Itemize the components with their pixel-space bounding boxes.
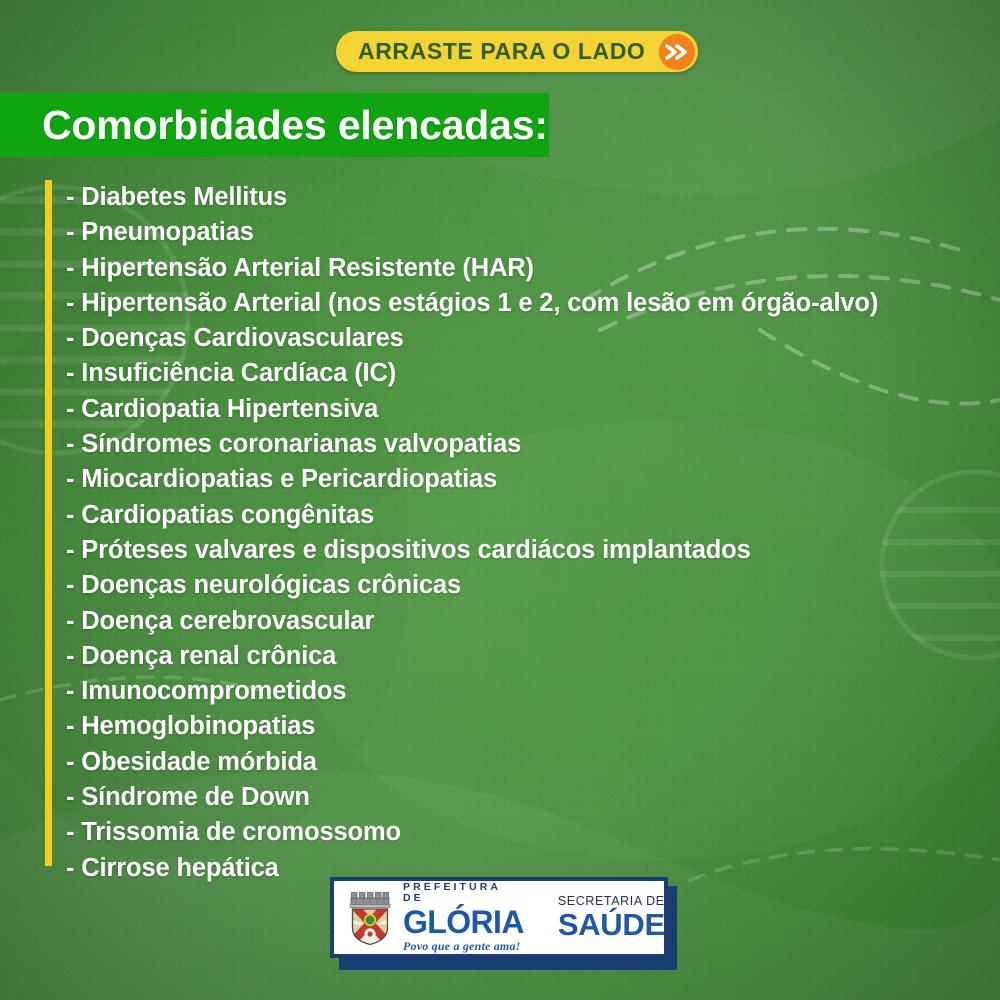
footer-logo-bar: PREFEITURA DE GLÓRIA Povo que a gente am…	[330, 877, 668, 958]
list-item: - Insuficiência Cardíaca (IC)	[66, 356, 995, 391]
department-name: SAÚDE	[558, 909, 665, 940]
city-name: GLÓRIA	[403, 906, 524, 938]
yellow-accent-rule	[45, 180, 52, 866]
list-item: - Cardiopatias congênitas	[66, 498, 995, 533]
comorbidity-list: - Diabetes Mellitus- Pneumopatias- Hiper…	[45, 180, 995, 886]
page-title: Comorbidades elencadas:	[42, 105, 548, 146]
list-item: - Próteses valvares e dispositivos cardi…	[66, 533, 995, 568]
list-item: - Cardiopatia Hipertensiva	[66, 392, 995, 427]
list-item: - Doenças neurológicas crônicas	[66, 568, 995, 603]
city-tagline: Povo que a gente ama!	[403, 940, 524, 953]
title-banner: Comorbidades elencadas:	[0, 93, 549, 157]
list-item: - Obesidade mórbida	[66, 745, 995, 780]
list-item: - Diabetes Mellitus	[66, 180, 995, 215]
list-item: - Síndrome de Down	[66, 780, 995, 815]
swipe-hint-badge[interactable]: ARRASTE PARA O LADO	[336, 31, 698, 72]
list-item: - Hemoglobinopatias	[66, 709, 995, 744]
comorbidity-list-section: - Diabetes Mellitus- Pneumopatias- Hiper…	[45, 180, 995, 886]
double-chevron-right-icon[interactable]	[659, 34, 695, 70]
list-item: - Imunocomprometidos	[66, 674, 995, 709]
prefeitura-label: PREFEITURA DE	[403, 882, 524, 905]
list-item: - Doença cerebrovascular	[66, 604, 995, 639]
list-item: - Síndromes coronarianas valvopatias	[66, 427, 995, 462]
municipal-coat-of-arms-icon	[346, 890, 394, 946]
list-item: - Doença renal crônica	[66, 639, 995, 674]
list-item: - Miocardiopatias e Pericardiopatias	[66, 462, 995, 497]
secretaria-saude-wordmark: SECRETARIA DE SAÚDE	[558, 895, 665, 941]
list-item: - Pneumopatias	[66, 215, 995, 250]
list-item: - Hipertensão Arterial (nos estágios 1 e…	[66, 286, 995, 321]
list-item: - Trissomia de cromossomo	[66, 815, 995, 850]
prefeitura-gloria-wordmark: PREFEITURA DE GLÓRIA Povo que a gente am…	[403, 882, 524, 953]
poster-canvas: ARRASTE PARA O LADO Comorbidades elencad…	[0, 0, 1000, 1000]
list-item: - Hipertensão Arterial Resistente (HAR)	[66, 251, 995, 286]
list-item: - Doenças Cardiovasculares	[66, 321, 995, 356]
swipe-hint-label: ARRASTE PARA O LADO	[358, 40, 659, 63]
